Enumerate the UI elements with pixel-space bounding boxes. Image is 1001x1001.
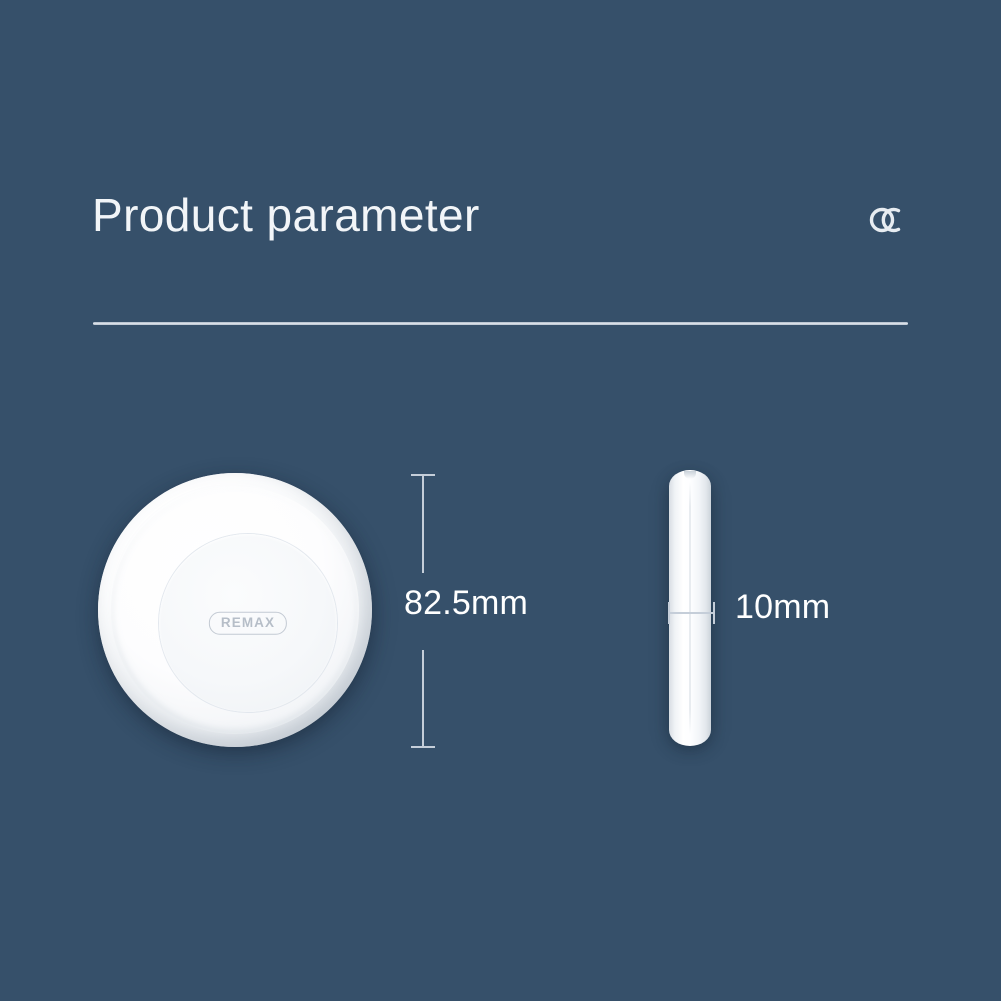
disc-rim: REMAX bbox=[111, 486, 359, 734]
dimension-line-upper bbox=[422, 476, 424, 573]
product-top-view: REMAX bbox=[98, 473, 372, 747]
dimension-line-horizontal bbox=[669, 612, 714, 614]
remax-brand-mark: REMAX bbox=[209, 612, 287, 635]
page-title: Product parameter bbox=[92, 190, 480, 241]
product-parameter-slide: Product parameter REMAX 82.5mm bbox=[0, 0, 1001, 1001]
dimension-cap-bottom bbox=[411, 746, 435, 748]
side-top-notch bbox=[684, 471, 696, 479]
dimension-height: 82.5mm bbox=[404, 468, 574, 758]
disc-outer-body: REMAX bbox=[98, 473, 372, 747]
infinity-rings-icon bbox=[862, 200, 918, 240]
disc-inner-surface: REMAX bbox=[159, 534, 337, 712]
header-divider bbox=[93, 322, 908, 325]
dimension-height-label: 82.5mm bbox=[404, 586, 574, 620]
dimension-thickness-label: 10mm bbox=[735, 590, 830, 624]
dimension-thickness: 10mm bbox=[662, 600, 842, 640]
dimension-line-lower bbox=[422, 650, 424, 746]
dimension-cap-right bbox=[713, 602, 715, 624]
